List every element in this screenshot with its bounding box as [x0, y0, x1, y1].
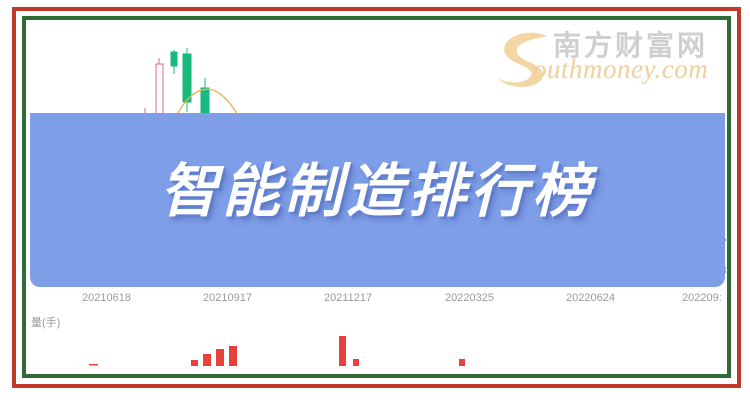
volume-bars-svg: [27, 326, 727, 386]
stock-chart-card: 智能制造排行榜 20210618 20210917 20211217 20220…: [27, 20, 727, 392]
volume-bar: [203, 354, 211, 366]
candle-group-green: [171, 48, 225, 178]
volume-bar: [353, 359, 359, 366]
volume-bar: [339, 336, 346, 366]
x-tick-0: 20210618: [82, 292, 131, 304]
volume-panel: 量(手): [27, 314, 727, 388]
volume-bar: [191, 360, 198, 366]
volume-bar: [216, 349, 224, 366]
volume-bar: [459, 359, 465, 366]
x-tick-2: 20211217: [324, 292, 372, 304]
x-tick-3: 20220325: [445, 292, 494, 304]
volume-bar-tick: [89, 364, 98, 366]
volume-bar-group: [89, 336, 465, 366]
candle-group-violet: [242, 160, 348, 260]
kline-price-panel: [27, 20, 727, 288]
kline-svg: [27, 20, 727, 288]
screenshot-root: 智能制造排行榜 20210618 20210917 20211217 20220…: [0, 0, 750, 400]
x-axis-labels: 20210618 20210917 20211217 20220325 2022…: [27, 292, 727, 310]
volume-bar: [229, 346, 237, 366]
candle-group-right: [356, 216, 724, 284]
x-tick-5: 202209:: [682, 292, 722, 304]
x-tick-1: 20210917: [203, 292, 252, 304]
x-tick-4: 20220624: [566, 292, 615, 304]
